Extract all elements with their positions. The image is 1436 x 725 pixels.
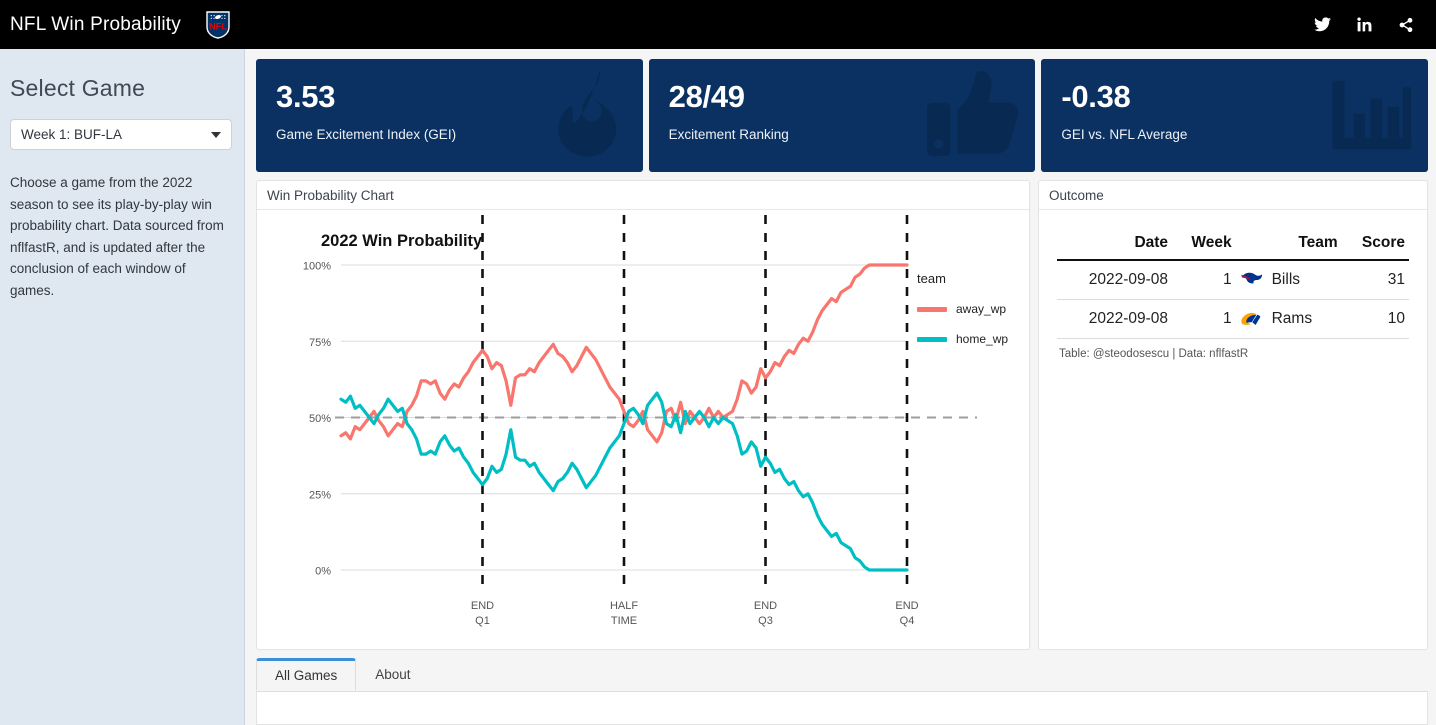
svg-text:Q3: Q3: [758, 615, 773, 627]
panels-row: Win Probability Chart 2022 Win Probabili…: [256, 180, 1428, 650]
game-select[interactable]: Week 1: BUF-LA: [10, 119, 232, 150]
chevron-down-icon: [211, 132, 221, 138]
legend-item-home[interactable]: home_wp: [917, 332, 1008, 346]
cell-score: 10: [1342, 300, 1409, 339]
legend-label-home: home_wp: [956, 332, 1008, 346]
win-probability-chart: 0%25%50%75%100%ENDQ1HALFTIMEENDQ3ENDQ4: [257, 210, 1031, 650]
stat-card-label: Game Excitement Index (GEI): [276, 127, 643, 142]
table-source-note: Table: @steodosescu | Data: nflfastR: [1057, 348, 1409, 360]
stat-card-value: 3.53: [276, 81, 643, 114]
cell-date: 2022-09-08: [1057, 300, 1172, 339]
chart-panel-body: 2022 Win Probability 0%25%50%75%100%ENDQ…: [257, 210, 1029, 649]
stat-card-gei: 3.53 Game Excitement Index (GEI): [256, 59, 643, 172]
nfl-shield-icon: NFL: [205, 11, 231, 39]
outcome-panel-body: Date Week Team Score 2022-09-08 1: [1039, 210, 1427, 649]
bottom-section: All Games About: [256, 658, 1428, 725]
legend-label-away: away_wp: [956, 302, 1006, 316]
chart-panel-header: Win Probability Chart: [257, 181, 1029, 210]
stat-card-value: 28/49: [669, 81, 1036, 114]
bills-logo-icon: [1240, 270, 1263, 290]
legend-item-away[interactable]: away_wp: [917, 302, 1006, 316]
app-title: NFL Win Probability: [10, 14, 181, 36]
outcome-panel: Outcome Date Week Team Score: [1038, 180, 1428, 650]
outcome-panel-header: Outcome: [1039, 181, 1427, 210]
twitter-icon[interactable]: [1314, 17, 1331, 32]
svg-text:END: END: [471, 600, 494, 612]
tab-all-games[interactable]: All Games: [256, 658, 356, 691]
svg-text:100%: 100%: [303, 261, 331, 273]
svg-text:END: END: [754, 600, 777, 612]
stat-card-label: Excitement Ranking: [669, 127, 1036, 142]
sidebar: Select Game Week 1: BUF-LA Choose a game…: [0, 49, 245, 725]
svg-text:HALF: HALF: [610, 600, 638, 612]
share-icon[interactable]: [1398, 17, 1414, 33]
legend-swatch-home: [917, 337, 947, 342]
svg-text:0%: 0%: [315, 566, 331, 578]
rams-logo-icon: [1240, 309, 1263, 329]
svg-text:50%: 50%: [309, 413, 331, 425]
svg-text:NFL: NFL: [209, 21, 227, 31]
stat-card-ranking: 28/49 Excitement Ranking: [649, 59, 1036, 172]
column-header-date: Date: [1057, 234, 1172, 260]
social-links: [1314, 17, 1414, 33]
legend-swatch-away: [917, 307, 947, 312]
svg-text:TIME: TIME: [611, 615, 637, 627]
svg-text:Q4: Q4: [900, 615, 915, 627]
sidebar-title: Select Game: [10, 75, 232, 102]
top-bar: NFL Win Probability NFL: [0, 0, 1436, 49]
cell-date: 2022-09-08: [1057, 260, 1172, 300]
stat-cards: 3.53 Game Excitement Index (GEI) 28/49 E…: [256, 59, 1428, 172]
cell-team: Rams: [1236, 300, 1342, 339]
cell-week: 1: [1172, 260, 1236, 300]
svg-text:25%: 25%: [309, 489, 331, 501]
win-probability-chart-panel: Win Probability Chart 2022 Win Probabili…: [256, 180, 1030, 650]
tab-strip: All Games About: [256, 658, 1428, 691]
outcome-table-body: 2022-09-08 1: [1057, 260, 1409, 339]
svg-text:75%: 75%: [309, 337, 331, 349]
tab-about[interactable]: About: [356, 658, 429, 691]
cell-team-name: Rams: [1272, 310, 1312, 328]
column-header-week: Week: [1172, 234, 1236, 260]
table-header-row: Date Week Team Score: [1057, 234, 1409, 260]
stat-card-vs-average: -0.38 GEI vs. NFL Average: [1041, 59, 1428, 172]
tab-panel-all-games: [256, 691, 1428, 725]
outcome-table-head: Date Week Team Score: [1057, 234, 1409, 260]
main-content: 3.53 Game Excitement Index (GEI) 28/49 E…: [245, 49, 1436, 725]
cell-team: Bills: [1236, 260, 1342, 300]
linkedin-icon[interactable]: [1357, 17, 1372, 32]
outcome-table: Date Week Team Score 2022-09-08 1: [1057, 234, 1409, 339]
table-row: 2022-09-08 1: [1057, 260, 1409, 300]
body-container: Select Game Week 1: BUF-LA Choose a game…: [0, 49, 1436, 725]
cell-team-name: Bills: [1272, 271, 1300, 289]
sidebar-description: Choose a game from the 2022 season to se…: [10, 172, 232, 301]
svg-text:END: END: [895, 600, 918, 612]
column-header-team: Team: [1236, 234, 1342, 260]
stat-card-label: GEI vs. NFL Average: [1061, 127, 1428, 142]
column-header-score: Score: [1342, 234, 1409, 260]
cell-week: 1: [1172, 300, 1236, 339]
game-select-value: Week 1: BUF-LA: [21, 127, 211, 142]
cell-score: 31: [1342, 260, 1409, 300]
svg-text:Q1: Q1: [475, 615, 490, 627]
stat-card-value: -0.38: [1061, 81, 1428, 114]
legend-title: team: [917, 271, 946, 286]
table-row: 2022-09-08 1: [1057, 300, 1409, 339]
